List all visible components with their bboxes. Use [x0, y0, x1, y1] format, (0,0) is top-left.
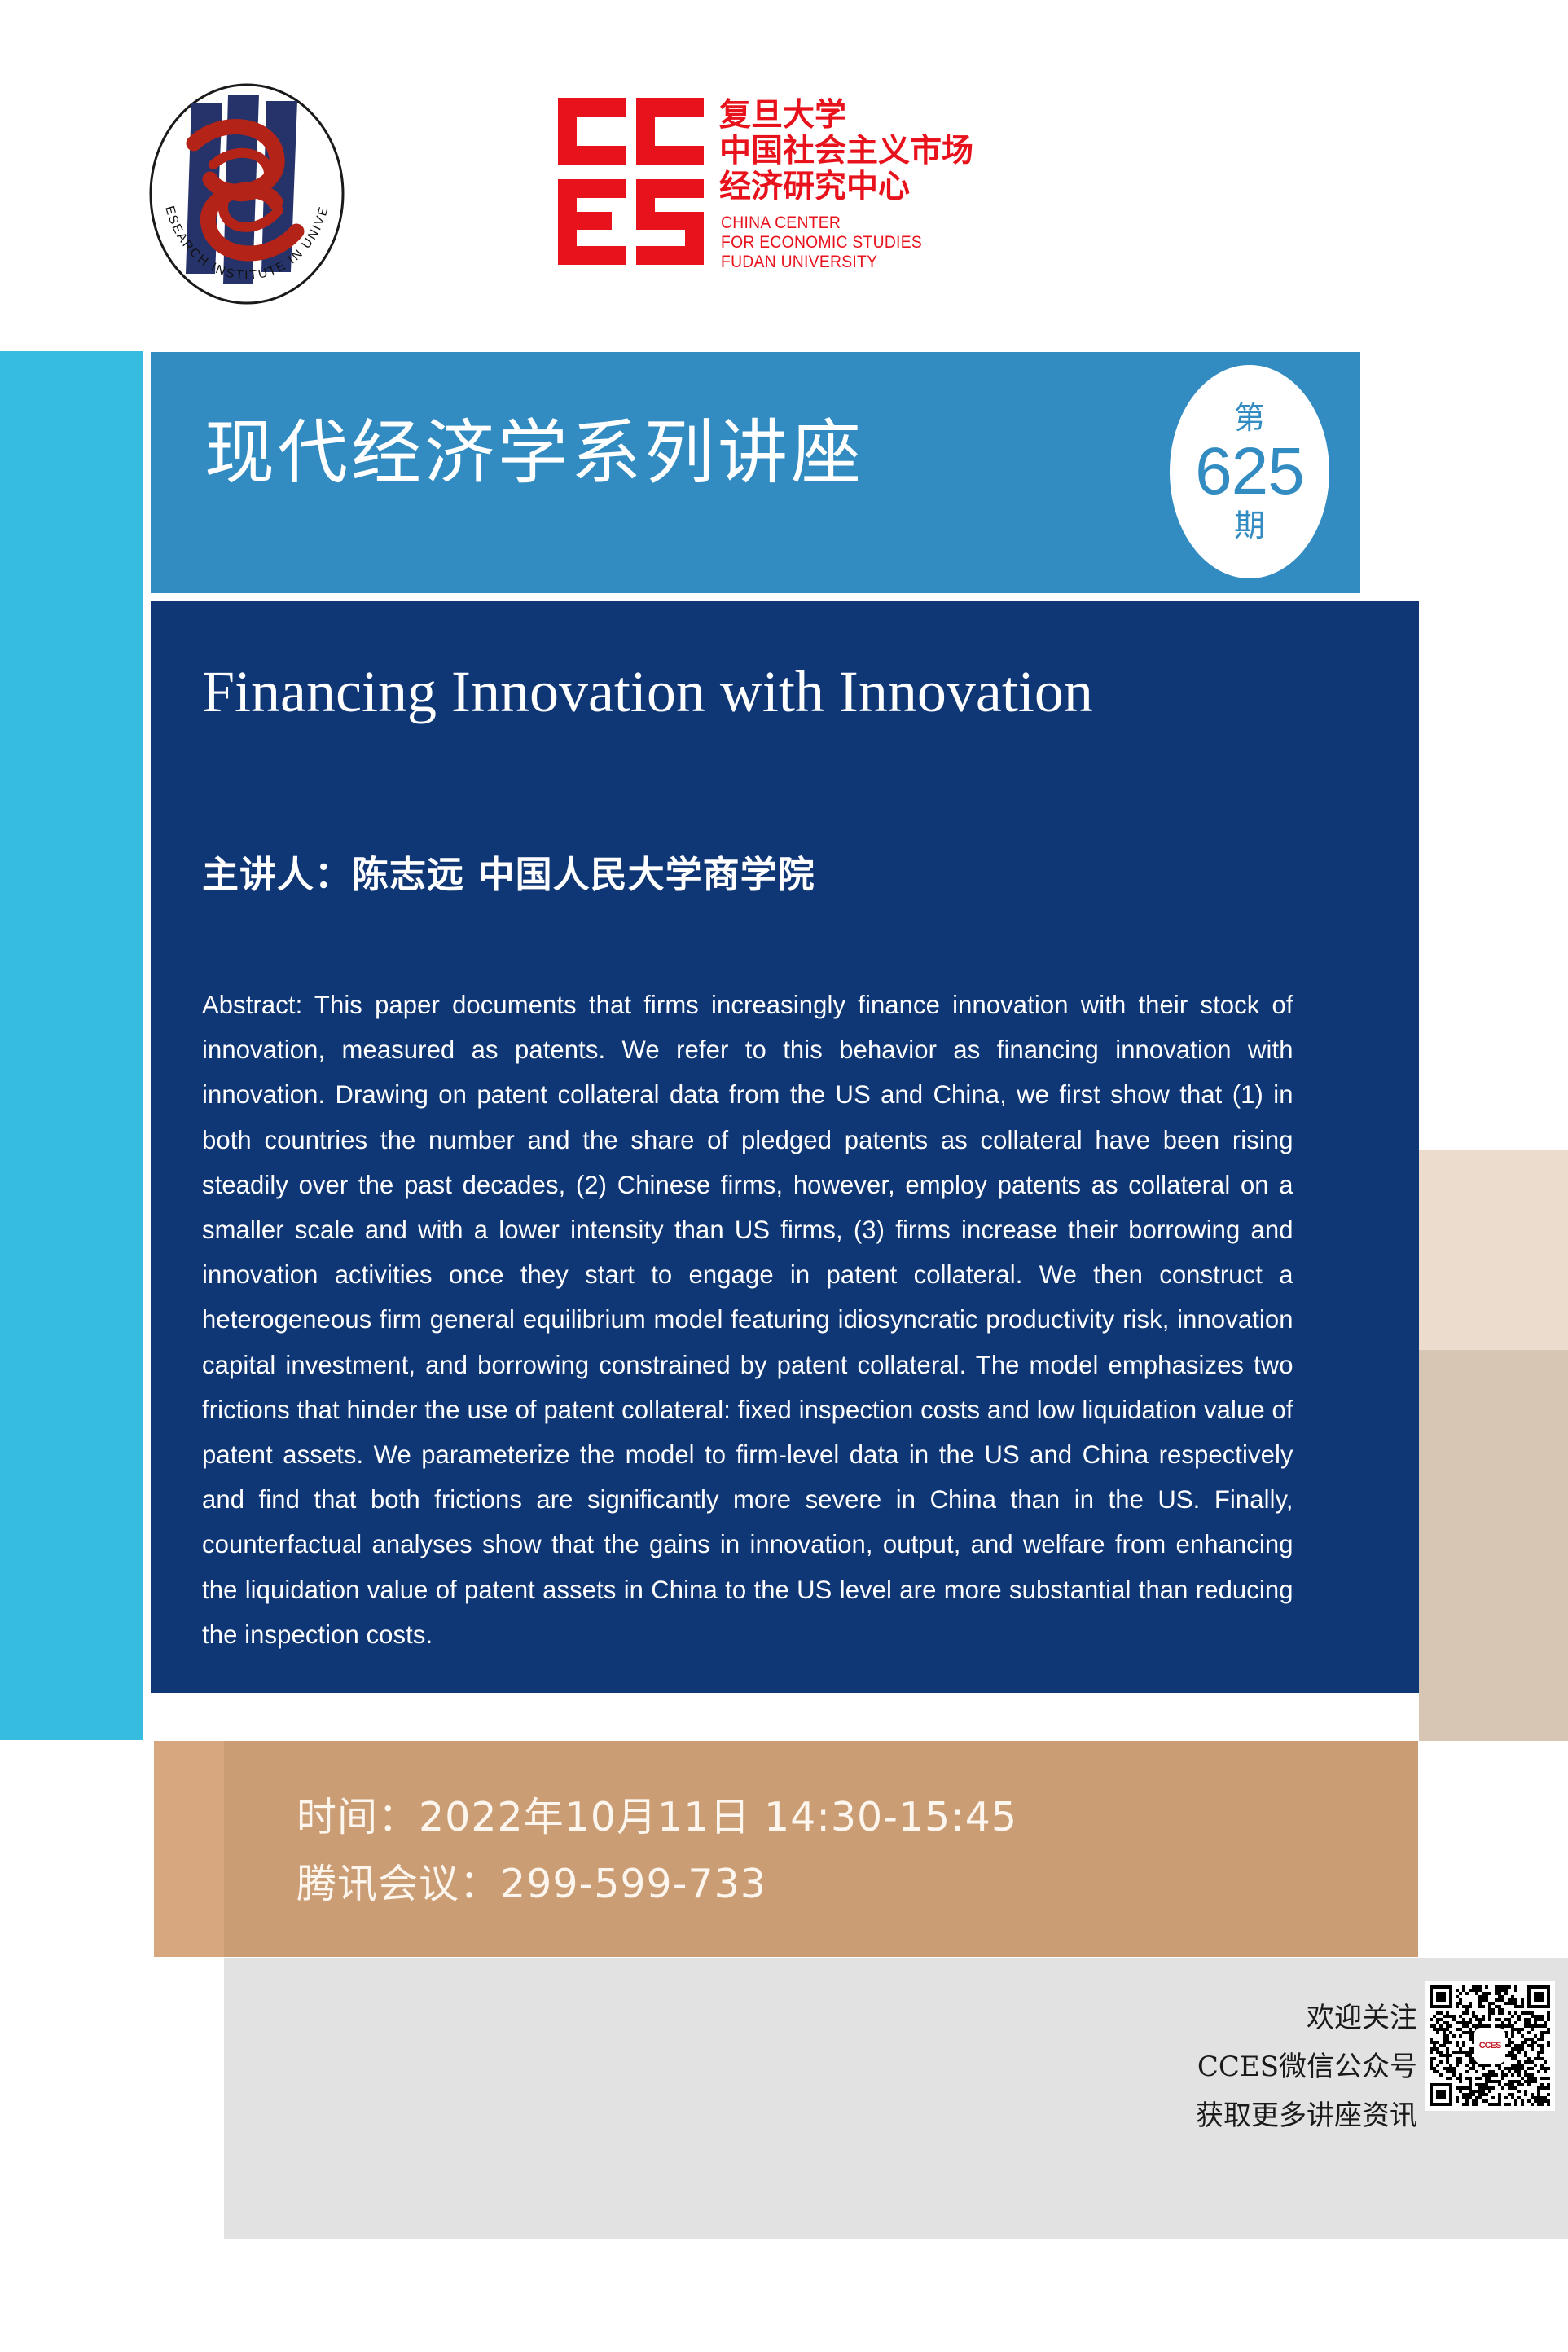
- logistics-info-lines: 时间：2022年10月11日 14:30-15:45 腾讯会议：299-599-…: [296, 1784, 1017, 1918]
- issue-prefix-label: 第: [1234, 401, 1265, 435]
- wechat-qr-code[interactable]: CCES: [1425, 1981, 1555, 2111]
- cces-chinese-name: 复旦大学 中国社会主义市场 经济研究中心: [719, 98, 1045, 205]
- right-beige-panel-lower: [1419, 1350, 1568, 1741]
- qr-center-logo-icon: CCES: [1476, 2029, 1504, 2062]
- series-header-band: 现代经济学系列讲座 第 625 期: [151, 352, 1360, 593]
- cces-english-name: CHINA CENTER FOR ECONOMIC STUDIES FUDAN …: [721, 213, 922, 272]
- follow-us-text: 欢迎关注 CCES微信公众号 获取更多讲座资讯: [1196, 1994, 1417, 2140]
- speaker-line: 主讲人：陈志远 中国人民大学商学院: [202, 852, 815, 898]
- lecture-detail-panel: Financing Innovation with Innovation 主讲人…: [151, 601, 1419, 1693]
- cces-chinese-line-3: 经济研究中心: [719, 169, 1045, 205]
- abstract-text: Abstract: This paper documents that firm…: [202, 983, 1293, 1657]
- meeting-id-line: 腾讯会议：299-599-733: [296, 1851, 1017, 1918]
- issue-number-badge: 第 625 期: [1170, 365, 1329, 578]
- issue-suffix-label: 期: [1234, 508, 1265, 543]
- cces-english-line-1: CHINA CENTER: [721, 213, 922, 233]
- logistics-info-band: 时间：2022年10月11日 14:30-15:45 腾讯会议：299-599-…: [224, 1741, 1418, 1957]
- paper-title: Financing Innovation with Innovation: [202, 657, 1359, 727]
- info-band-accent-strip: [154, 1741, 224, 1957]
- follow-line-1: 欢迎关注: [1196, 1994, 1417, 2042]
- follow-line-3: 获取更多讲座资讯: [1196, 2091, 1417, 2140]
- follow-line-2: CCES微信公众号: [1196, 2042, 1417, 2091]
- key-research-institute-seal-logo: KEY RESEARCH INSTITUTE IN UNIVERSITY: [145, 80, 349, 308]
- cces-logo: 复旦大学 中国社会主义市场 经济研究中心 CHINA CENTER FOR EC…: [558, 98, 1047, 277]
- footer-panel: 欢迎关注 CCES微信公众号 获取更多讲座资讯 CCES: [224, 1958, 1568, 2239]
- issue-number-value: 625: [1195, 437, 1304, 507]
- logo-strip: KEY RESEARCH INSTITUTE IN UNIVERSITY: [0, 0, 1568, 350]
- cces-english-line-2: FOR ECONOMIC STUDIES: [721, 233, 922, 253]
- cces-mark-icon: [558, 98, 709, 265]
- cces-english-line-3: FUDAN UNIVERSITY: [721, 253, 922, 272]
- cces-chinese-line-2: 中国社会主义市场: [719, 134, 1045, 169]
- time-line: 时间：2022年10月11日 14:30-15:45: [296, 1784, 1017, 1851]
- qr-center-logo-label: CCES: [1479, 2042, 1501, 2050]
- right-beige-panel-upper: [1419, 1150, 1568, 1350]
- cces-chinese-line-1: 复旦大学: [719, 98, 1045, 134]
- left-cyan-accent-bar: [0, 351, 143, 1740]
- series-title: 现代经济学系列讲座: [204, 414, 864, 492]
